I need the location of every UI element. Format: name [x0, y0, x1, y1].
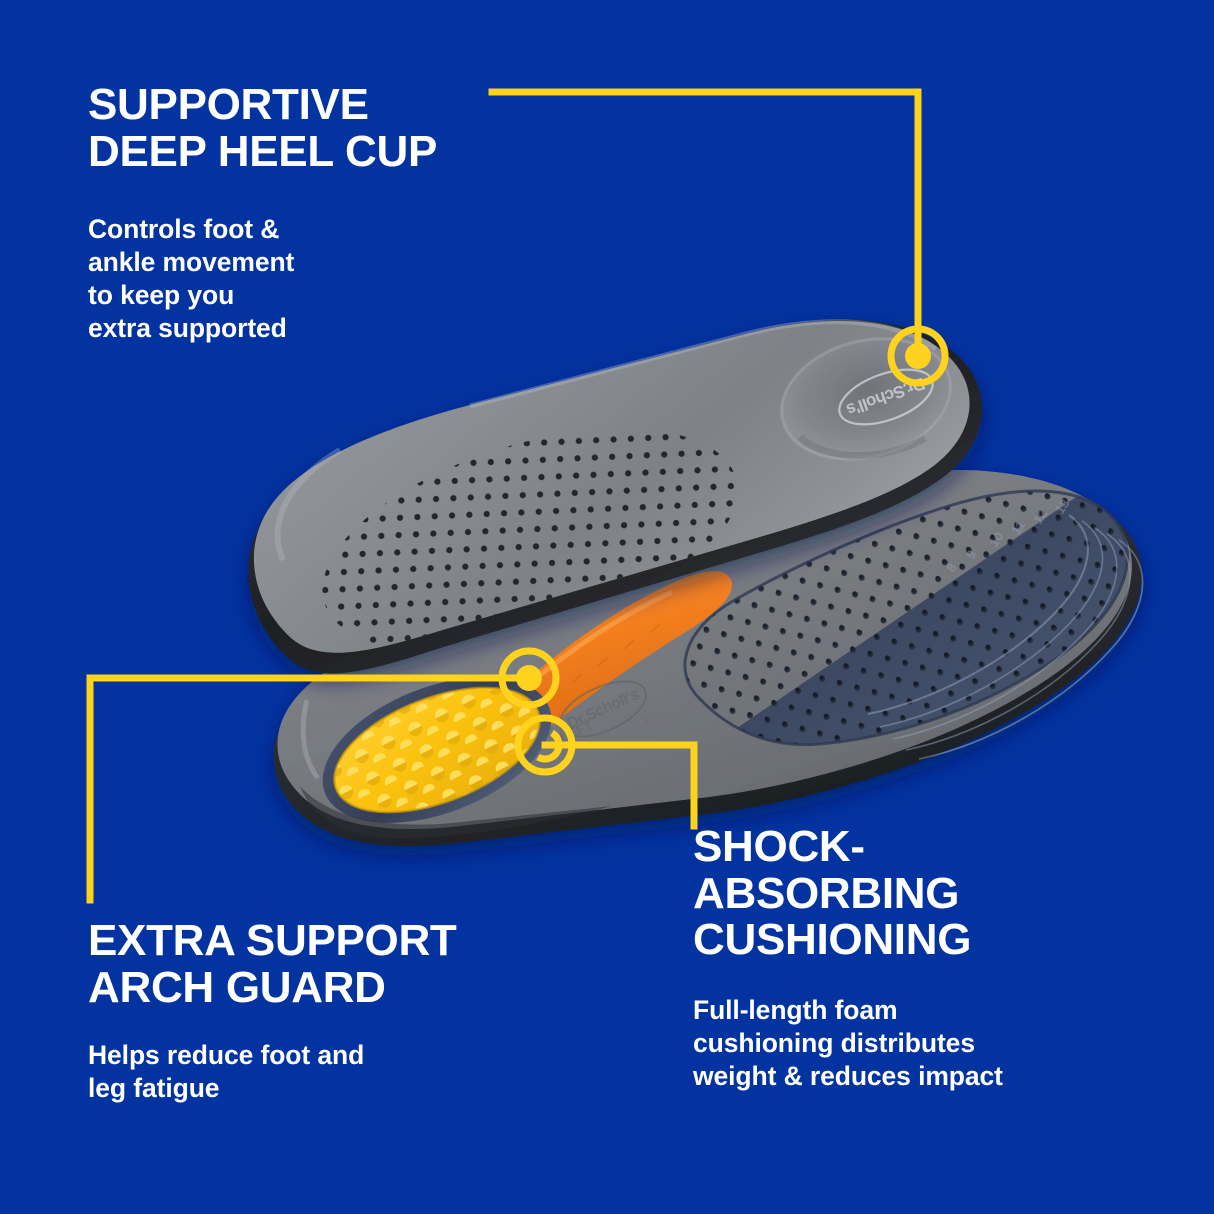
callout-shock-cushioning-subcopy: Full-length foam cushioning distributes …: [693, 994, 1163, 1093]
callout-shock-cushioning: SHOCK- ABSORBING CUSHIONING Full-length …: [693, 824, 1163, 1092]
callout-heel-cup-subcopy: Controls foot & ankle movement to keep y…: [88, 213, 528, 344]
callout-arch-guard: EXTRA SUPPORT ARCH GUARD Helps reduce fo…: [88, 918, 608, 1105]
callout-shock-cushioning-headline: SHOCK- ABSORBING CUSHIONING: [693, 824, 1163, 964]
callout-heel-cup-headline: SUPPORTIVE DEEP HEEL CUP: [88, 82, 528, 175]
callout-arch-guard-headline: EXTRA SUPPORT ARCH GUARD: [88, 918, 608, 1011]
callout-arch-guard-subcopy: Helps reduce foot and leg fatigue: [88, 1039, 608, 1105]
callout-heel-cup: SUPPORTIVE DEEP HEEL CUP Controls foot &…: [88, 82, 528, 345]
infographic-canvas: 8 9 10 11 12 13: [0, 0, 1214, 1214]
